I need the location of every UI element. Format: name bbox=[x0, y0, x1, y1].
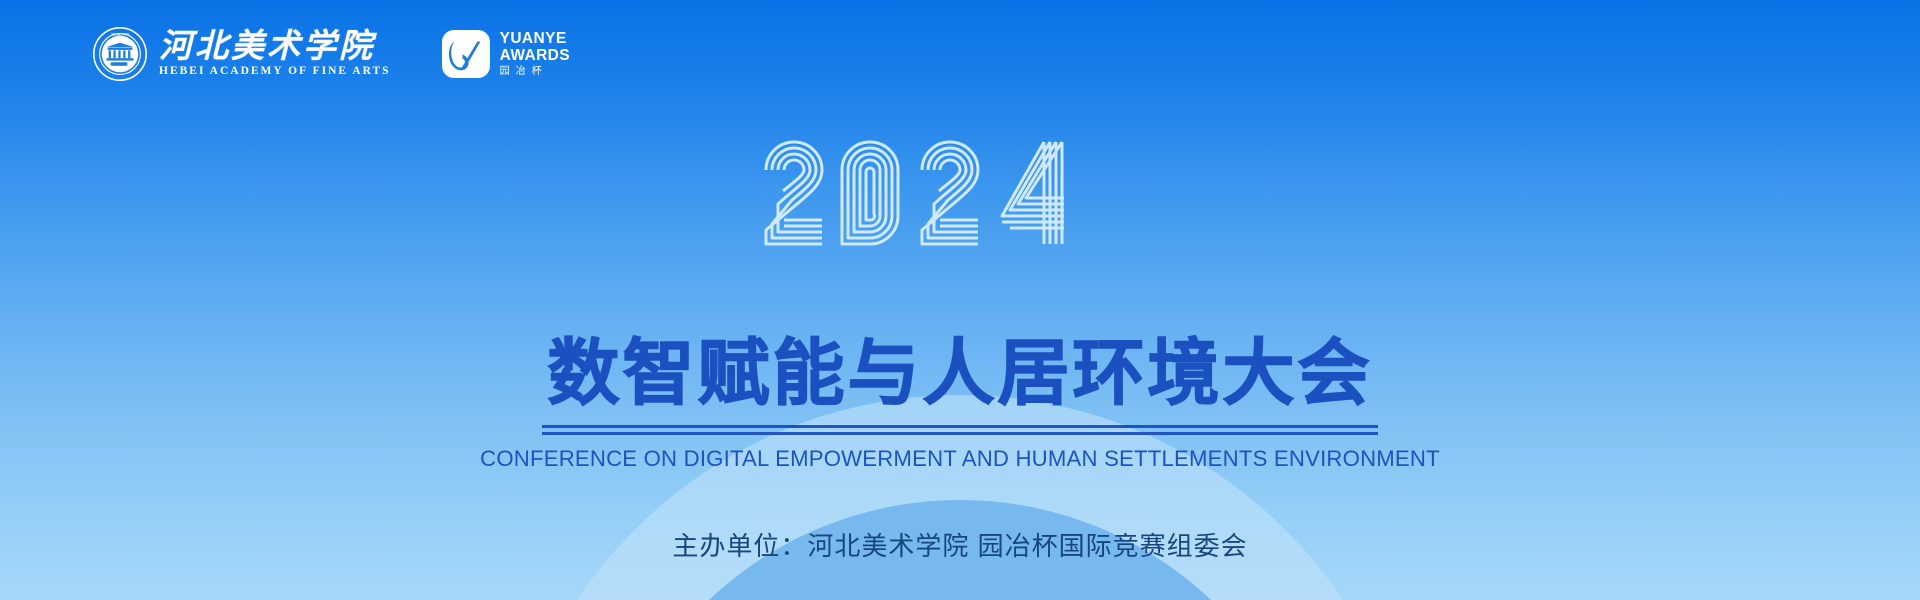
yuanye-awards-mark-icon bbox=[441, 29, 491, 79]
hebei-academy-name-cn: 河北美术学院 bbox=[159, 31, 391, 64]
hebei-academy-wordmark: 河北美术学院 HEBEI ACADEMY OF FINE ARTS bbox=[159, 31, 391, 78]
digit-2b bbox=[922, 142, 978, 244]
year-2024-graphic bbox=[760, 134, 1160, 274]
hebei-academy-name-en: HEBEI ACADEMY OF FINE ARTS bbox=[159, 66, 391, 78]
title-rule-bottom bbox=[542, 432, 1378, 435]
digit-4 bbox=[1002, 142, 1064, 244]
organiser-line: 主办单位：河北美术学院 园冶杯国际竞赛组委会 bbox=[0, 533, 1920, 559]
page-subtitle: CONFERENCE ON DIGITAL EMPOWERMENT AND HU… bbox=[14, 448, 1905, 471]
hebei-academy-logo: 河北美术学院 1996 河北美术学院 HEBEI ACADEMY OF FINE… bbox=[92, 26, 391, 82]
title-block: 数智赋能与人居环境大会 CONFERENCE ON DIGITAL EMPOWE… bbox=[0, 336, 1920, 471]
yuanye-line1: YUANYE bbox=[500, 31, 570, 47]
yuanye-line2: AWARDS bbox=[500, 48, 570, 64]
yuanye-name-cn: 园冶杯 bbox=[500, 67, 570, 77]
digit-2a bbox=[766, 142, 822, 244]
yuanye-awards-wordmark: YUANYE AWARDS 园冶杯 bbox=[500, 31, 570, 77]
logo-row: 河北美术学院 1996 河北美术学院 HEBEI ACADEMY OF FINE… bbox=[92, 26, 570, 82]
conference-banner: 河北美术学院 1996 河北美术学院 HEBEI ACADEMY OF FINE… bbox=[0, 0, 1920, 600]
hebei-academy-seal-icon: 河北美术学院 1996 bbox=[92, 26, 148, 82]
svg-text:1996: 1996 bbox=[117, 63, 123, 66]
title-rules bbox=[542, 425, 1378, 435]
page-title: 数智赋能与人居环境大会 bbox=[0, 336, 1920, 412]
title-rule-top bbox=[542, 425, 1378, 428]
digit-0 bbox=[842, 142, 898, 244]
svg-text:河北美术学院: 河北美术学院 bbox=[111, 32, 130, 37]
yuanye-awards-logo: YUANYE AWARDS 园冶杯 bbox=[441, 29, 570, 79]
